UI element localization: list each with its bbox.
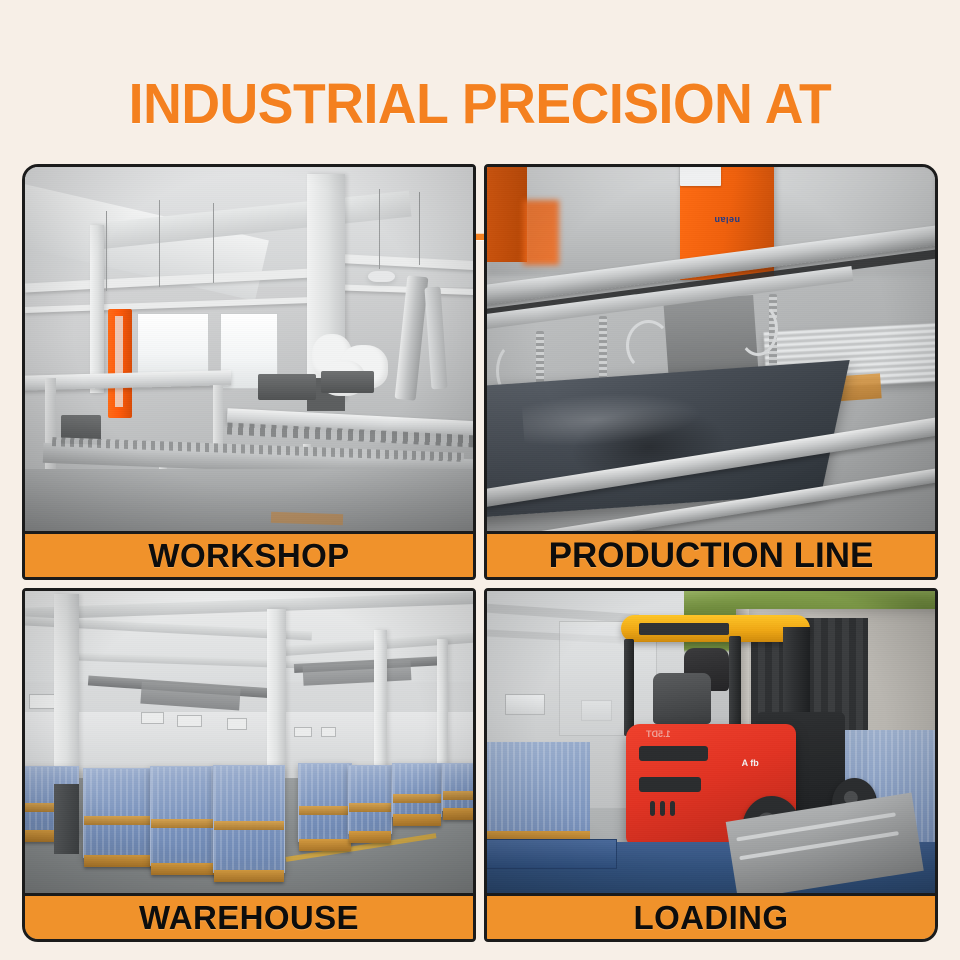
loading-forklift-post-left — [624, 639, 635, 736]
workshop-hanger-wire-3 — [213, 203, 214, 283]
warehouse-pallet-stack-4 — [213, 765, 285, 874]
production-air-hose-2 — [626, 320, 671, 371]
loading-forklift-slot-3 — [670, 801, 675, 815]
loading-wall-window-1 — [505, 694, 545, 715]
workshop-machine-hood-2 — [321, 371, 375, 393]
loading-pallets-on-dock — [487, 742, 590, 833]
photo-warehouse — [25, 591, 473, 893]
loading-forklift-slot-1 — [650, 801, 655, 815]
loading-forklift-seat — [653, 673, 711, 724]
production-orange-blur-element — [523, 200, 559, 266]
page-title-line-1: INDUSTRIAL PRECISION AT — [29, 75, 931, 134]
workshop-hanger-wire-4 — [379, 189, 380, 269]
warehouse-wall-vent-4 — [294, 727, 312, 738]
workshop-gantry-slot — [115, 316, 122, 407]
workshop-column-secondary — [90, 225, 104, 392]
warehouse-wall-vent-5 — [321, 727, 337, 738]
production-orange-frame-left — [487, 167, 527, 262]
production-machine-label-plate: nelan — [680, 167, 721, 186]
gallery-panel-loading[interactable]: 1.5DT A fb LOADING — [484, 588, 938, 942]
loading-forklift-grille-2 — [639, 777, 700, 791]
loading-forklift-model-text: 1.5DT — [646, 729, 671, 739]
warehouse-pallet-band — [84, 816, 154, 825]
caption-production-line: PRODUCTION LINE — [487, 531, 935, 577]
loading-forklift-slot-2 — [660, 801, 665, 815]
caption-workshop: WORKSHOP — [25, 531, 473, 577]
warehouse-pallet-band — [299, 806, 351, 815]
loading-dock-rail-left — [487, 839, 617, 869]
loading-forklift-post-right — [729, 636, 741, 727]
photo-production-line: nelan — [487, 167, 935, 531]
warehouse-wall-vent-1 — [141, 712, 163, 724]
workshop-hanger-wire-2 — [159, 200, 160, 287]
warehouse-pallet-stack-6 — [348, 765, 393, 834]
warehouse-wall-vent-2 — [177, 715, 202, 727]
warehouse-pallet-band — [393, 794, 440, 803]
loading-forklift-brand-text: A fb — [742, 758, 759, 768]
warehouse-pallet-stack-5 — [298, 763, 352, 842]
loading-forklift-grille-1 — [639, 746, 707, 762]
photo-workshop — [25, 167, 473, 531]
workshop-floor — [25, 469, 473, 531]
warehouse-column-dark-base — [54, 784, 79, 853]
warehouse-pallet-band — [151, 819, 216, 828]
production-air-hose-3 — [738, 302, 778, 357]
warehouse-pallet-stack-8 — [442, 763, 473, 811]
image-gallery-grid: WORKSHOP nelan — [22, 164, 938, 942]
warehouse-pallet-band — [214, 821, 284, 830]
warehouse-pallet-band — [349, 803, 392, 812]
workshop-machine-hood-1 — [258, 374, 316, 399]
workshop-floor-pallet — [271, 512, 343, 525]
warehouse-pallet-stack-7 — [392, 763, 441, 817]
workshop-ceiling-lamp-icon — [368, 271, 395, 283]
warehouse-pallet-stack-3 — [150, 766, 217, 866]
loading-forklift-canopy-bar — [639, 623, 729, 635]
gallery-panel-workshop[interactable]: WORKSHOP — [22, 164, 476, 580]
photo-loading: 1.5DT A fb — [487, 591, 935, 893]
caption-warehouse: WAREHOUSE — [25, 893, 473, 939]
workshop-hanger-wire-5 — [419, 192, 420, 265]
gallery-panel-production-line[interactable]: nelan PRODUCTI — [484, 164, 938, 580]
caption-loading: LOADING — [487, 893, 935, 939]
warehouse-wall-vent-3 — [227, 718, 247, 730]
gallery-panel-warehouse[interactable]: WAREHOUSE — [22, 588, 476, 942]
workshop-hanger-wire-1 — [106, 211, 107, 291]
warehouse-pallet-band — [443, 791, 473, 800]
warehouse-pallet-stack-2 — [83, 768, 155, 859]
